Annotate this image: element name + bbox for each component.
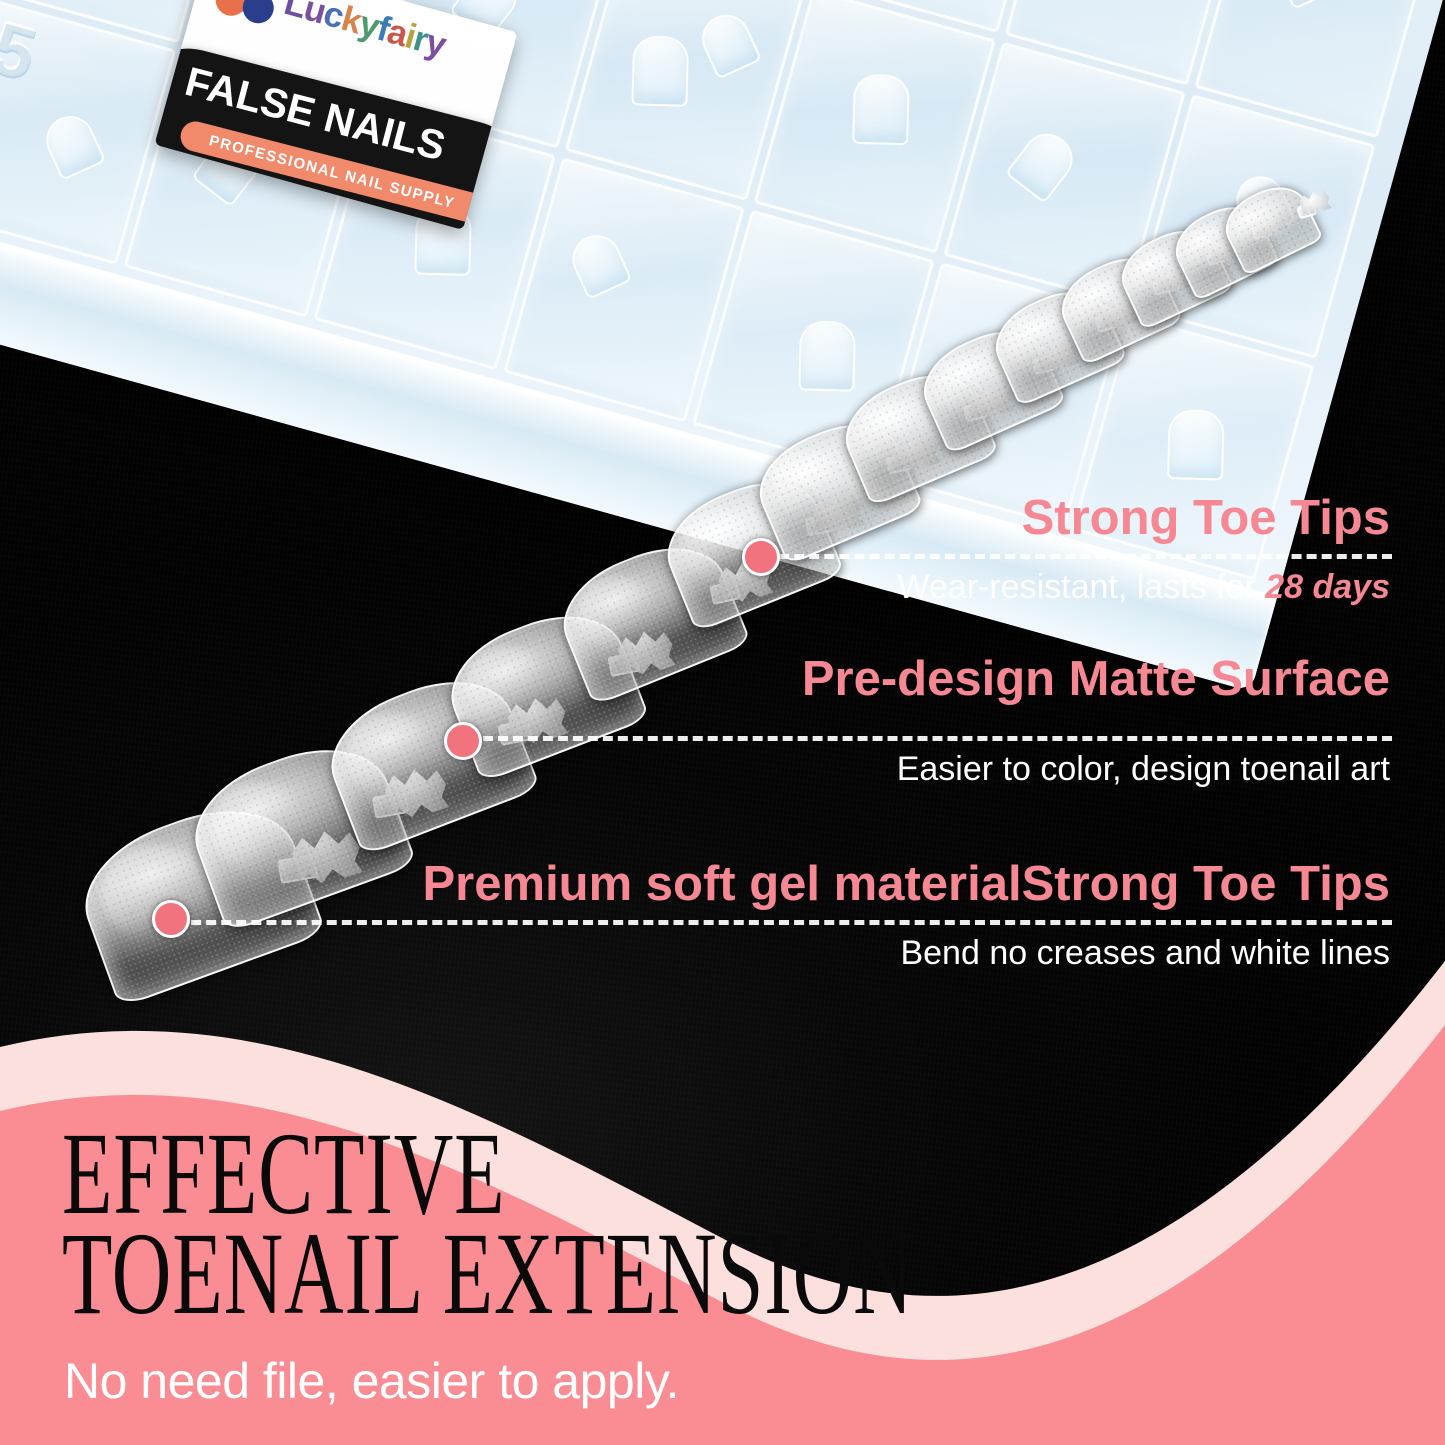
compartment-number: 5 [0, 10, 41, 92]
feature-subtitle-highlight: 28 days [1265, 568, 1390, 606]
brand-name: Luckyfairy [280, 0, 450, 66]
feature-block-premium-soft-gel-material: Premium soft gel materialStrong Toe Tips [404, 860, 1390, 909]
feature-subtitle-prefix: Wear-resistant, lasts for [897, 568, 1265, 606]
four-leaf-clover-icon [209, 0, 287, 31]
footer-tagline: No need file, easier to apply. [64, 1352, 679, 1410]
feature-subtitle: Wear-resistant, lasts for 28 days [820, 568, 1390, 607]
feature-title: Strong Toe Tips [880, 494, 1390, 543]
feature-title: Pre-design Matte Surface [800, 655, 1390, 704]
feature-subtitle-wrap: Easier to color, design toenail art [820, 750, 1390, 789]
feature-subtitle-prefix: Easier to color, design toenail art [897, 750, 1390, 788]
feature-marker-dot [444, 722, 482, 760]
feature-marker-dot [152, 900, 190, 938]
feature-dash-line [764, 554, 1392, 559]
feature-block-pre-design-matte-surface: Pre-design Matte Surface [800, 655, 1390, 704]
feature-subtitle-wrap: Wear-resistant, lasts for 28 days [820, 568, 1390, 607]
feature-dash-line [468, 736, 1392, 741]
footer-headline-line2: TOENAIL EXTENSION [62, 1218, 914, 1330]
feature-block-strong-toe-tips: Strong Toe Tips [880, 494, 1390, 543]
feature-title: Premium soft gel materialStrong Toe Tips [404, 860, 1390, 909]
feature-marker-dot [742, 538, 780, 576]
product-marketing-image: 11 4 8 5 [0, 0, 1445, 1445]
feature-subtitle: Easier to color, design toenail art [820, 750, 1390, 789]
